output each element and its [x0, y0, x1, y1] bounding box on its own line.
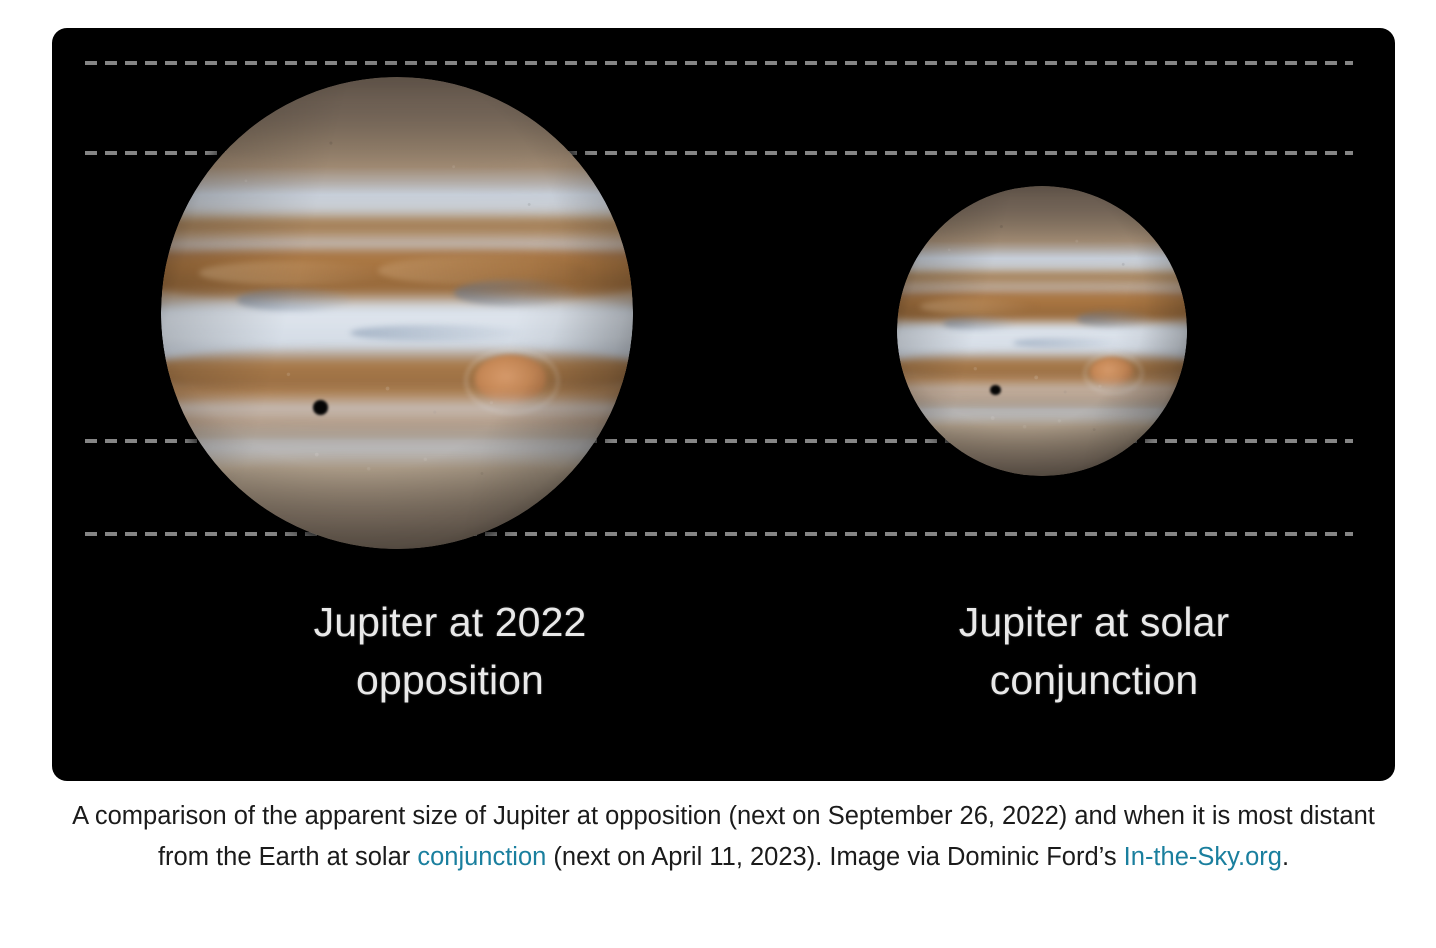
jupiter-conjunction-disc: [897, 186, 1187, 476]
planet-label-conjunction-line1: Jupiter at solar: [804, 593, 1384, 651]
terminator-shading-small: [897, 186, 1187, 476]
planet-label-conjunction: Jupiter at solar conjunction: [804, 593, 1384, 709]
guide-line-top-outer: [85, 61, 1353, 65]
figure-caption: A comparison of the apparent size of Jup…: [52, 796, 1395, 878]
in-the-sky-org-link[interactable]: In-the-Sky.org: [1124, 843, 1282, 871]
caption-text-part3: .: [1282, 843, 1289, 871]
terminator-shading: [161, 77, 633, 549]
figure-panel: Jupiter at 2022 opposition Jupiter at so…: [52, 28, 1395, 781]
planet-label-opposition-line1: Jupiter at 2022: [160, 593, 740, 651]
jupiter-opposition-disc: [161, 77, 633, 549]
figure-page: Jupiter at 2022 opposition Jupiter at so…: [0, 0, 1436, 948]
planet-label-opposition: Jupiter at 2022 opposition: [160, 593, 740, 709]
conjunction-link[interactable]: conjunction: [417, 843, 546, 871]
planet-label-conjunction-line2: conjunction: [804, 651, 1384, 709]
planet-label-opposition-line2: opposition: [160, 651, 740, 709]
caption-text-part2: (next on April 11, 2023). Image via Domi…: [546, 843, 1123, 871]
